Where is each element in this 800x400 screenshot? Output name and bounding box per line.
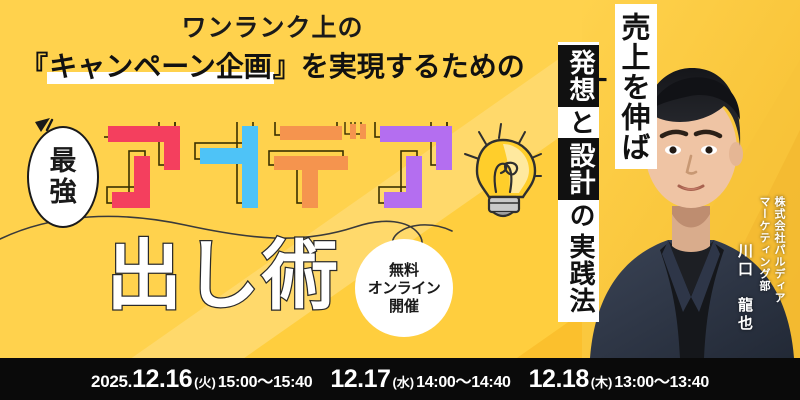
- quote-open: 『: [20, 50, 48, 83]
- highlighted-keyword: キャンペーン企画: [48, 50, 273, 84]
- badge-free-line1: 無料: [389, 263, 419, 278]
- date-2-time: 14:00〜14:40: [416, 368, 511, 392]
- headline: ワンランク上の 『キャンペーン企画』を実現するための: [0, 14, 545, 83]
- vertical-block-no: の: [558, 200, 599, 231]
- date-item-1: 2025. 12.16 (火) 15:00〜15:40: [91, 365, 312, 394]
- speaker-name: 川口 龍也: [735, 243, 756, 348]
- vertical-block-to: と: [558, 107, 599, 138]
- headline-line2-tail: 』を実現するための: [273, 50, 525, 83]
- lightbulb-icon: [455, 118, 551, 233]
- vertical-text-hasso: 発想 と 設計 の 実践法: [558, 42, 599, 322]
- date-bar: 2025. 12.16 (火) 15:00〜15:40 12.17 (水) 14…: [0, 358, 800, 400]
- badge-free-line3: 開催: [389, 299, 419, 314]
- idea-letter-i: [195, 122, 258, 208]
- speaker-company: 株式会社パルディア: [771, 196, 787, 336]
- speaker-department: マーケティング部: [756, 196, 772, 318]
- date-2-monthday: 12.17: [330, 365, 390, 394]
- idea-letter-a2: [375, 122, 452, 208]
- date-1-year: 2025.: [91, 372, 132, 392]
- date-item-3: 12.18 (木) 13:00〜13:40: [529, 365, 709, 394]
- headline-line1: ワンランク上の: [0, 14, 545, 43]
- date-1-time: 15:00〜15:40: [218, 368, 313, 392]
- sparkle-icon: [30, 116, 56, 138]
- badge-saikyou: 最 強: [27, 126, 99, 228]
- date-1-monthday: 12.16: [132, 365, 192, 394]
- title-main-idea: [104, 122, 464, 232]
- date-item-2: 12.17 (水) 14:00〜14:40: [330, 365, 510, 394]
- vertical-block-hasso: 発想: [558, 45, 599, 107]
- badge-free-online: 無料 オンライン 開催: [355, 239, 453, 337]
- date-3-dow: (木): [591, 372, 613, 391]
- date-3-monthday: 12.18: [529, 365, 589, 394]
- badge-saikyou-char1: 最: [50, 148, 77, 175]
- idea-letter-a1: [104, 122, 180, 208]
- badge-free-line2: オンライン: [368, 281, 441, 296]
- headline-line2: 『キャンペーン企画』を実現するための: [0, 50, 545, 84]
- title-sub: 出し術: [106, 238, 340, 314]
- vertical-block-sekkei: 設計: [558, 138, 599, 200]
- vertical-text-uriage: 売上を伸ばす: [615, 4, 657, 169]
- vertical-block-jissenhou: 実践法: [558, 231, 599, 316]
- badge-saikyou-char2: 強: [50, 179, 77, 206]
- idea-letter-de: [269, 122, 366, 208]
- date-1-dow: (火): [194, 372, 216, 391]
- webinar-banner: ワンランク上の 『キャンペーン企画』を実現するための 最 強: [0, 0, 800, 400]
- date-3-time: 13:00〜13:40: [614, 368, 709, 392]
- date-2-dow: (水): [392, 372, 414, 391]
